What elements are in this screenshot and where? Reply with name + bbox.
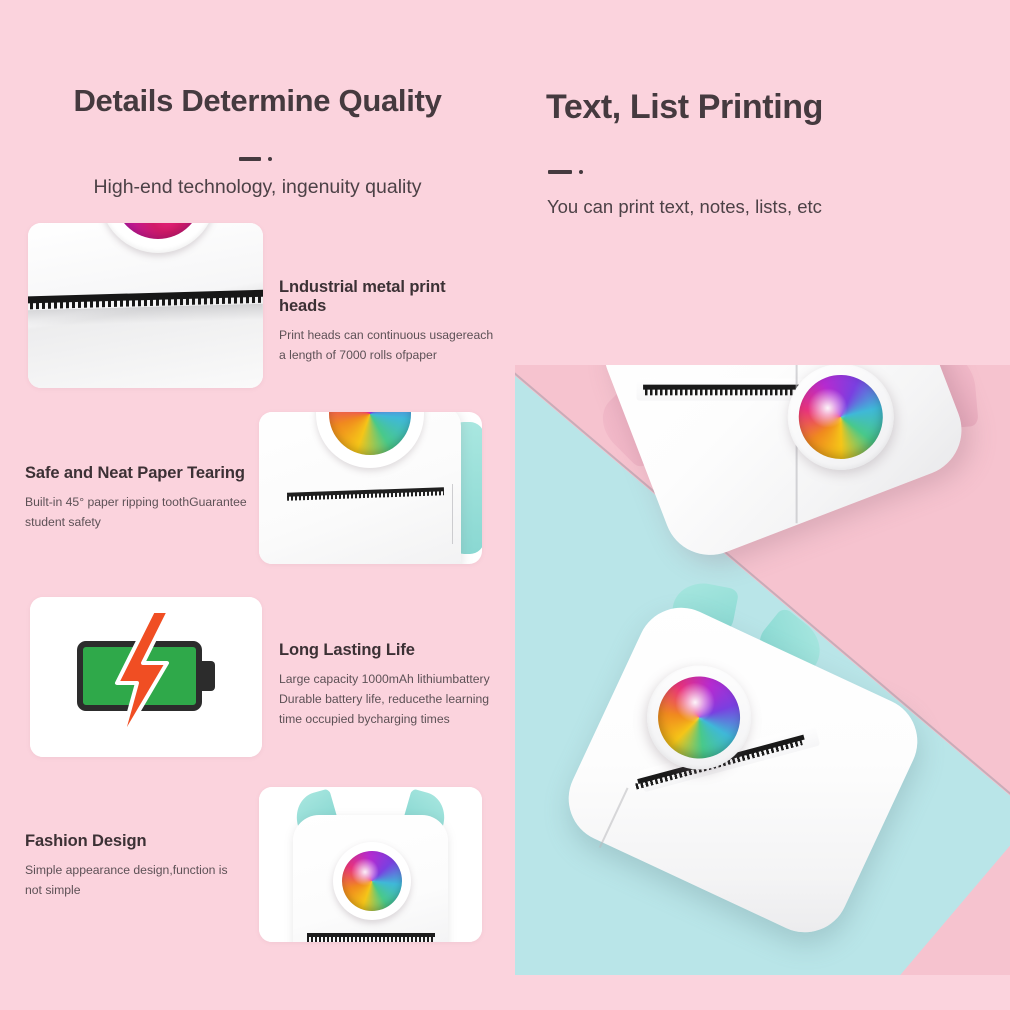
left-panel-subheading: High-end technology, ingenuity quality xyxy=(0,176,515,199)
printer-lens xyxy=(333,842,411,920)
divider-bar xyxy=(239,157,261,161)
left-panel-heading: Details Determine Quality xyxy=(0,83,515,119)
battery-terminal xyxy=(202,661,215,691)
product-photo xyxy=(515,365,1010,975)
feature-body: Large capacity 1000mAh lithiumbattery Du… xyxy=(279,670,495,729)
feature-title: Safe and Neat Paper Tearing xyxy=(25,464,253,483)
feature-title: Long Lasting Life xyxy=(279,641,495,660)
divider-dot xyxy=(268,157,272,161)
lens-highlight xyxy=(351,858,379,886)
feature-image-battery xyxy=(30,597,262,757)
feature-title: Lndustrial metal print heads xyxy=(279,278,494,316)
right-panel: Text, List Printing You can print text, … xyxy=(515,0,1010,1010)
feature-title: Fashion Design xyxy=(25,832,247,851)
product-feature-page: Details Determine Quality High-end techn… xyxy=(0,0,1010,1010)
feature-text-print-head: Lndustrial metal print heads Print heads… xyxy=(279,278,494,366)
feature-image-fashion-design xyxy=(259,787,482,942)
feature-text-paper-tearing: Safe and Neat Paper Tearing Built-in 45°… xyxy=(25,464,253,533)
lightning-bolt-icon xyxy=(109,611,173,741)
divider-bar xyxy=(548,170,572,174)
tear-bar-teeth-icon xyxy=(307,937,435,942)
feature-text-battery: Long Lasting Life Large capacity 1000mAh… xyxy=(279,641,495,729)
lens-gradient xyxy=(329,412,411,455)
feature-text-fashion-design: Fashion Design Simple appearance design,… xyxy=(25,832,247,901)
left-divider-ornament xyxy=(239,150,272,168)
right-panel-subheading: You can print text, notes, lists, etc xyxy=(547,196,822,218)
body-seam xyxy=(452,484,453,544)
feature-image-print-head xyxy=(28,223,263,388)
feature-image-paper-tearing xyxy=(259,412,482,564)
feature-body: Print heads can continuous usagereach a … xyxy=(279,326,494,366)
feature-body: Built-in 45° paper ripping toothGuarante… xyxy=(25,493,253,533)
divider-dot xyxy=(579,170,583,174)
right-panel-heading: Text, List Printing xyxy=(546,88,823,127)
left-panel: Details Determine Quality High-end techn… xyxy=(0,0,515,1010)
feature-body: Simple appearance design,function is not… xyxy=(25,861,247,901)
lens-gradient xyxy=(114,223,202,239)
right-divider-ornament xyxy=(548,163,583,181)
